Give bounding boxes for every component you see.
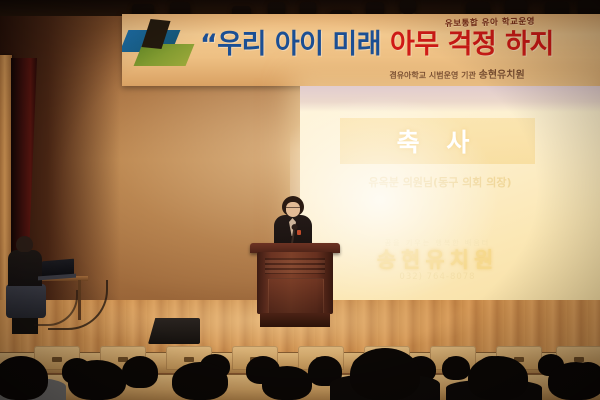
- technician-body: [8, 250, 42, 286]
- banner-subtitle-prefix: 겸유아학교 시범운영 기관: [389, 71, 476, 80]
- audience-head: [442, 356, 470, 380]
- audience-head: [122, 356, 158, 388]
- speaker-name-badge: [297, 230, 301, 235]
- slide-subtitle: 유옥분 의원님(동구 의회 의장): [320, 174, 560, 190]
- audience-head-front: [350, 348, 420, 400]
- slide-title: 축 사: [397, 123, 479, 159]
- slide-title-box: 축 사: [340, 118, 535, 164]
- slide-footer-tagline: 꿈을 키우는 행복한 배움터: [330, 238, 545, 248]
- audience-head-front: [548, 362, 600, 400]
- wooden-podium: [254, 243, 336, 327]
- auditorium-photo: 유보통합 유아 학교운영 “우리 아이 미래 아무 걱정 하지 겸유아학교 시범…: [0, 0, 600, 400]
- slide-footer-tel: 032) 764-8078: [330, 272, 545, 282]
- banner-main-text: “우리 아이 미래 아무 걱정 하지: [200, 27, 600, 63]
- banner-corner-logo-icon: [124, 20, 198, 70]
- slide-footer-logo: 꿈을 키우는 행복한 배움터 송현유치원 032) 764-8078: [330, 238, 545, 282]
- banner-subtitle-org: 송현유치원: [479, 70, 525, 81]
- slide-footer-org: 송현유치원: [330, 248, 545, 272]
- audience-head-front: [0, 356, 48, 400]
- audience-head-front: [172, 362, 228, 400]
- audience-head-front: [468, 356, 528, 400]
- projection-screen: 축 사 유옥분 의원님(동구 의회 의장) 꿈을 키우는 행복한 배움터 송현유…: [300, 86, 600, 312]
- technician-head: [16, 236, 33, 252]
- banner-subtitle: 겸유아학교 시범운영 기관 송현유치원: [312, 66, 600, 81]
- audience-head-front: [262, 366, 312, 400]
- seated-audience: [0, 330, 600, 400]
- banner-main-text-red: 아무 걱정 하지: [390, 29, 554, 60]
- screen-top-band: [300, 86, 600, 112]
- audience-head-front: [68, 360, 126, 400]
- speaker-glasses: [286, 207, 300, 211]
- av-technician-station: [4, 228, 88, 328]
- banner-main-text-blue: “우리 아이 미래: [200, 29, 381, 60]
- stage-banner: 유보통합 유아 학교운영 “우리 아이 미래 아무 걱정 하지 겸유아학교 시범…: [122, 14, 600, 86]
